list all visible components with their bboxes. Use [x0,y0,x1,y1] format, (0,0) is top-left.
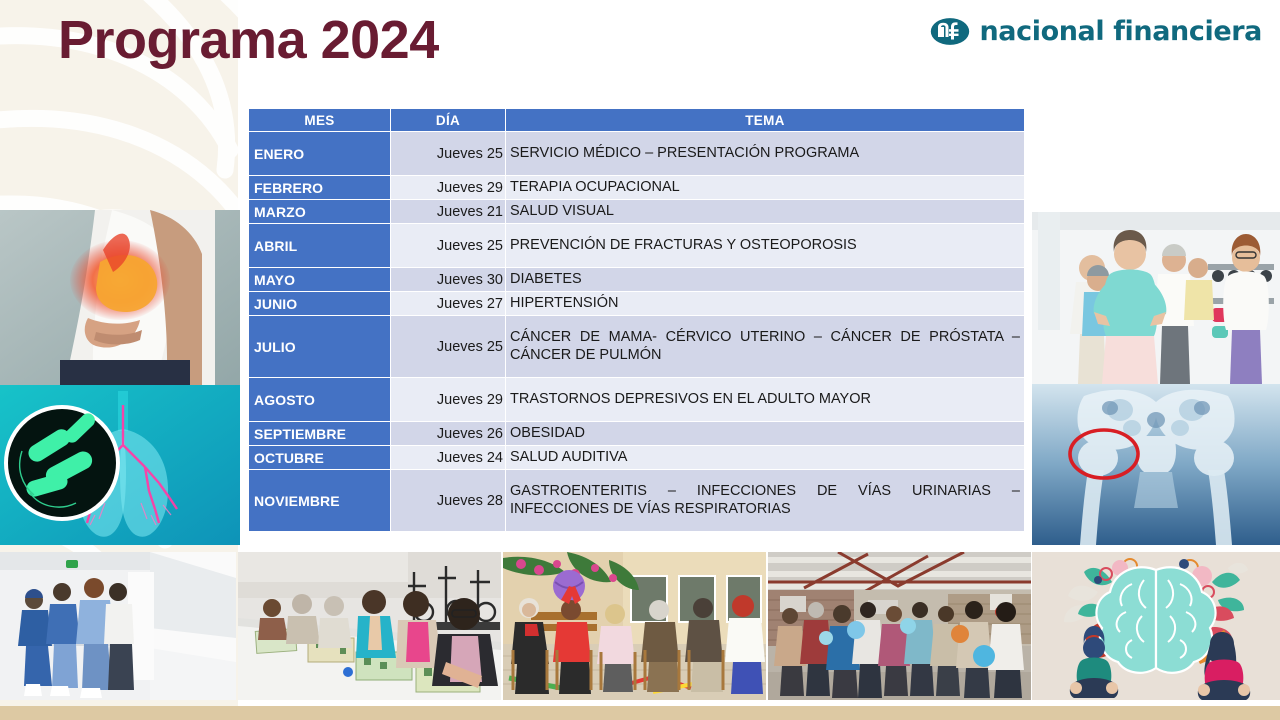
table-row: JUNIOJueves 27HIPERTENSIÓN [249,292,1025,316]
photo-seniors-loteria [238,552,501,700]
cell-dia: Jueves 26 [391,422,506,446]
cell-mes: MAYO [249,268,391,292]
cell-dia: Jueves 24 [391,446,506,470]
page-title: Programa 2024 [58,9,439,71]
cell-tema: HIPERTENSIÓN [506,292,1025,316]
cell-tema: SERVICIO MÉDICO – PRESENTACIÓN PROGRAMA [506,132,1025,176]
table-row: ENEROJueves 25SERVICIO MÉDICO – PRESENTA… [249,132,1025,176]
table-row: NOVIEMBREJueves 28GASTROENTERITIS – INFE… [249,470,1025,532]
table-row: AGOSTOJueves 29TRASTORNOS DEPRESIVOS EN … [249,378,1025,422]
column-header-tema: TEMA [506,109,1025,132]
table-row: MARZOJueves 21SALUD VISUAL [249,200,1025,224]
cell-dia: Jueves 21 [391,200,506,224]
cell-mes: SEPTIEMBRE [249,422,391,446]
photo-abdominal-pain [0,210,240,385]
table-row: ABRILJueves 25PREVENCIÓN DE FRACTURAS Y … [249,224,1025,268]
table-header-row: MES DÍA TEMA [249,109,1025,132]
brand-wordmark: nacional financiera [979,16,1262,47]
column-header-dia: DÍA [391,109,506,132]
cell-tema: OBESIDAD [506,422,1025,446]
slide-canvas: Programa 2024 nacional financiera [0,0,1280,720]
cell-mes: JULIO [249,316,391,378]
table-row: MAYOJueves 30DIABETES [249,268,1025,292]
bottom-accent-bar [0,706,1280,720]
photo-lungs-bacteria [0,385,240,545]
table-row: FEBREROJueves 29TERAPIA OCUPACIONAL [249,176,1025,200]
cell-mes: FEBRERO [249,176,391,200]
cell-dia: Jueves 25 [391,132,506,176]
cell-mes: MARZO [249,200,391,224]
cell-tema: PREVENCIÓN DE FRACTURAS Y OSTEOPOROSIS [506,224,1025,268]
table-row: OCTUBREJueves 24SALUD AUDITIVA [249,446,1025,470]
cell-tema: TRASTORNOS DEPRESIVOS EN EL ADULTO MAYOR [506,378,1025,422]
cell-tema: CÁNCER DE MAMA- CÉRVICO UTERINO – CÁNCER… [506,316,1025,378]
cell-dia: Jueves 25 [391,224,506,268]
cell-mes: ENERO [249,132,391,176]
cell-mes: JUNIO [249,292,391,316]
cell-mes: OCTUBRE [249,446,391,470]
cell-mes: NOVIEMBRE [249,470,391,532]
photo-hip-xray [1032,384,1280,545]
cell-dia: Jueves 28 [391,470,506,532]
program-schedule-table: MES DÍA TEMA ENEROJueves 25SERVICIO MÉDI… [248,108,1025,532]
photo-group-activity [768,552,1031,700]
column-header-mes: MES [249,109,391,132]
cell-dia: Jueves 27 [391,292,506,316]
cell-mes: ABRIL [249,224,391,268]
cell-tema: TERAPIA OCUPACIONAL [506,176,1025,200]
table-row: SEPTIEMBREJueves 26OBESIDAD [249,422,1025,446]
table-row: JULIOJueves 25CÁNCER DE MAMA- CÉRVICO UT… [249,316,1025,378]
cell-dia: Jueves 29 [391,378,506,422]
cell-dia: Jueves 29 [391,176,506,200]
cell-tema: SALUD VISUAL [506,200,1025,224]
cell-mes: AGOSTO [249,378,391,422]
cell-tema: GASTROENTERITIS – INFECCIONES DE VÍAS UR… [506,470,1025,532]
cell-dia: Jueves 30 [391,268,506,292]
nafin-monogram-icon [930,17,970,46]
cell-tema: SALUD AUDITIVA [506,446,1025,470]
photo-seniors-exercise [1032,212,1280,384]
photo-brain-wellness [1032,552,1280,700]
cell-dia: Jueves 25 [391,316,506,378]
brand-logo: nacional financiera [930,13,1262,49]
photo-medical-gurney [0,552,236,700]
photo-seniors-ball [503,552,766,700]
cell-tema: DIABETES [506,268,1025,292]
